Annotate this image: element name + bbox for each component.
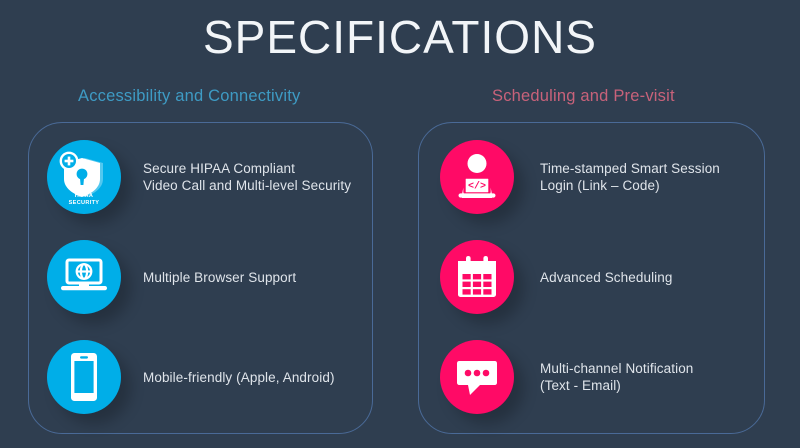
list-item-label: Multi-channel Notification (Text - Email… (540, 360, 693, 394)
calendar-icon (440, 240, 514, 314)
chat-bubble-icon (440, 340, 514, 414)
list-item-label: Secure HIPAA Compliant Video Call and Mu… (143, 160, 351, 194)
list-item[interactable]: Multi-channel Notification (Text - Email… (440, 340, 693, 414)
list-item[interactable]: Mobile-friendly (Apple, Android) (47, 340, 335, 414)
laptop-globe-icon (47, 240, 121, 314)
shield-lock-icon: HIPAASECURITY (47, 140, 121, 214)
section-heading-accessibility: Accessibility and Connectivity (78, 87, 300, 106)
list-item[interactable]: Multiple Browser Support (47, 240, 296, 314)
hipaa-caption-line2: SECURITY (69, 200, 100, 206)
smartphone-icon (47, 340, 121, 414)
page-title: SPECIFICATIONS (0, 10, 800, 64)
list-item-label: Mobile-friendly (Apple, Android) (143, 369, 335, 386)
person-laptop-code-icon: </> (440, 140, 514, 214)
section-heading-scheduling: Scheduling and Pre-visit (492, 87, 675, 106)
list-item-label: Multiple Browser Support (143, 269, 296, 286)
svg-text:</>: </> (468, 181, 486, 193)
list-item[interactable]: </> Time-stamped Smart Session Login (Li… (440, 140, 720, 214)
list-item[interactable]: Advanced Scheduling (440, 240, 673, 314)
list-item-label: Time-stamped Smart Session Login (Link –… (540, 160, 720, 194)
hipaa-caption-line1: HIPAA (75, 193, 94, 199)
list-item-label: Advanced Scheduling (540, 269, 673, 286)
specifications-slide: SPECIFICATIONS Accessibility and Connect… (0, 0, 800, 448)
hipaa-security-caption: HIPAASECURITY (47, 193, 121, 206)
list-item[interactable]: HIPAASECURITY Secure HIPAA Compliant Vid… (47, 140, 351, 214)
